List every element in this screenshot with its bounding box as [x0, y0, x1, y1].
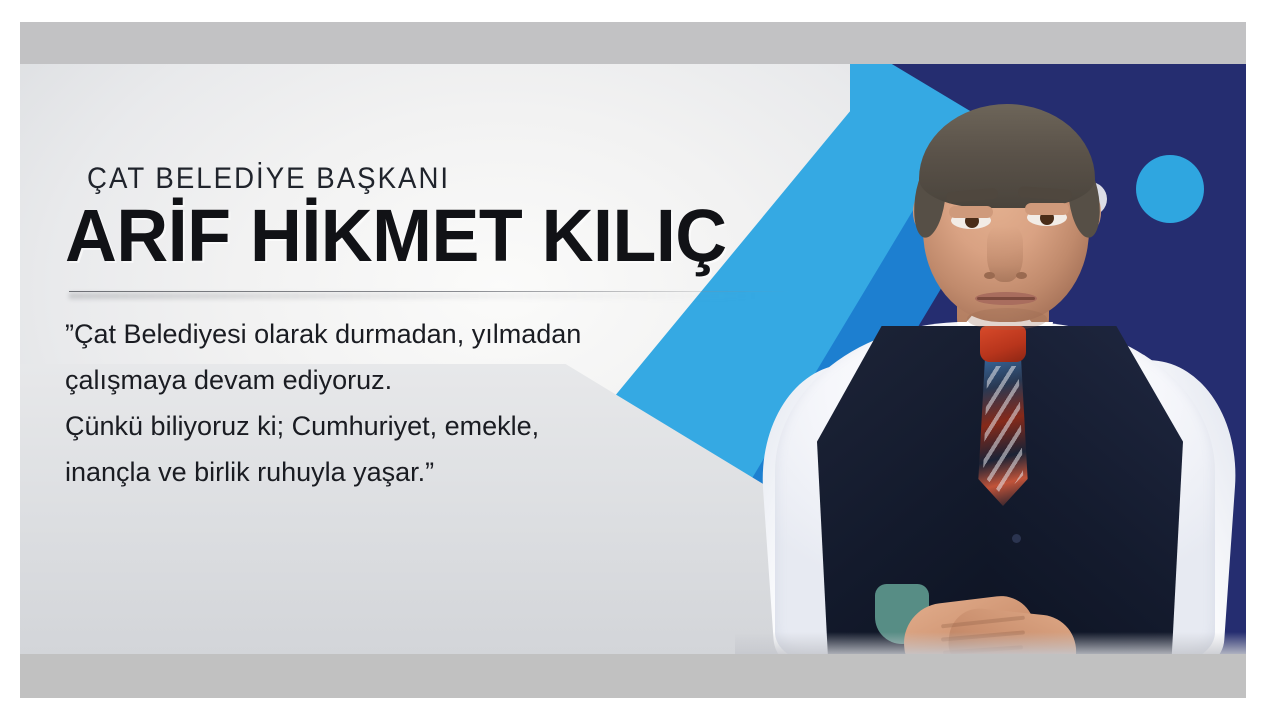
quote-text: ”Çat Belediyesi olarak durmadan, yılmada… — [65, 312, 795, 496]
vest-button-upper — [1012, 534, 1021, 543]
bottom-gray-band — [20, 654, 1246, 698]
banner-card: ÇAT BELEDİYE BAŞKANI ARİF HİKMET KILIÇ ”… — [20, 22, 1246, 698]
title-eyebrow: ÇAT BELEDİYE BAŞKANI — [87, 162, 748, 196]
mouth-line — [977, 297, 1035, 300]
person-name: ARİF HİKMET KILIÇ — [65, 198, 783, 273]
divider — [69, 291, 789, 292]
text-block: ÇAT BELEDİYE BAŞKANI ARİF HİKMET KILIÇ ”… — [65, 162, 805, 496]
portrait-photo — [735, 64, 1246, 654]
quote-line: çalışmaya devam ediyoruz. — [65, 358, 795, 404]
banner-canvas: ÇAT BELEDİYE BAŞKANI ARİF HİKMET KILIÇ ”… — [0, 0, 1280, 720]
nostril-right — [1016, 272, 1027, 279]
eyelid-right — [1025, 203, 1069, 215]
portrait-bottom-fade — [735, 632, 1246, 654]
quote-line: Çünkü biliyoruz ki; Cumhuriyet, emekle, — [65, 404, 795, 450]
top-gray-band — [20, 22, 1246, 64]
chin-shadow — [967, 308, 1047, 330]
banner-content: ÇAT BELEDİYE BAŞKANI ARİF HİKMET KILIÇ ”… — [20, 64, 1246, 654]
quote-line: inançla ve birlik ruhuyla yaşar.” — [65, 450, 795, 496]
eyelid-left — [949, 206, 993, 218]
nostril-left — [984, 272, 995, 279]
necktie-knot — [980, 326, 1026, 362]
quote-line: ”Çat Belediyesi olarak durmadan, yılmada… — [65, 312, 795, 358]
